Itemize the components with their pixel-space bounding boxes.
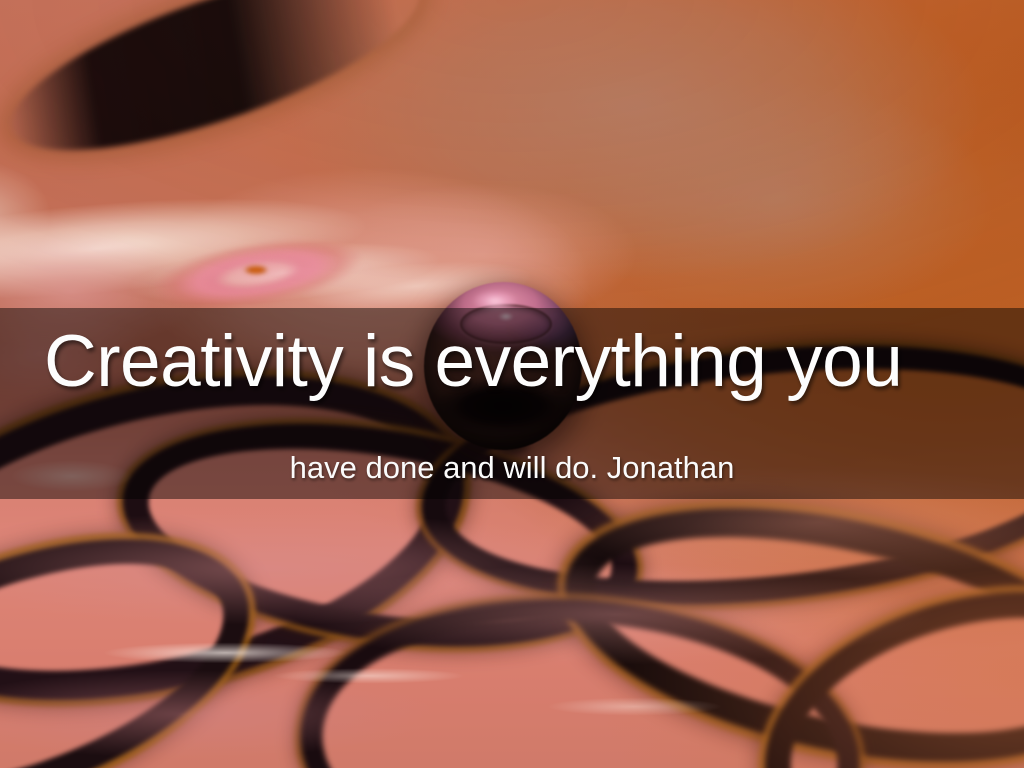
- slide: Creativity is everything you have done a…: [0, 0, 1024, 768]
- background-dark-band-4: [542, 464, 1024, 768]
- background-dark-band-7: [732, 547, 1024, 768]
- slide-subtitle: have done and will do. Jonathan: [0, 452, 1024, 483]
- background-ring-core-dot: [243, 265, 269, 275]
- background-dark-band-5: [0, 485, 285, 768]
- background-dark-band-6: [290, 581, 870, 768]
- background-dark-tongue: [0, 0, 438, 187]
- slide-headline: Creativity is everything you: [44, 325, 1004, 398]
